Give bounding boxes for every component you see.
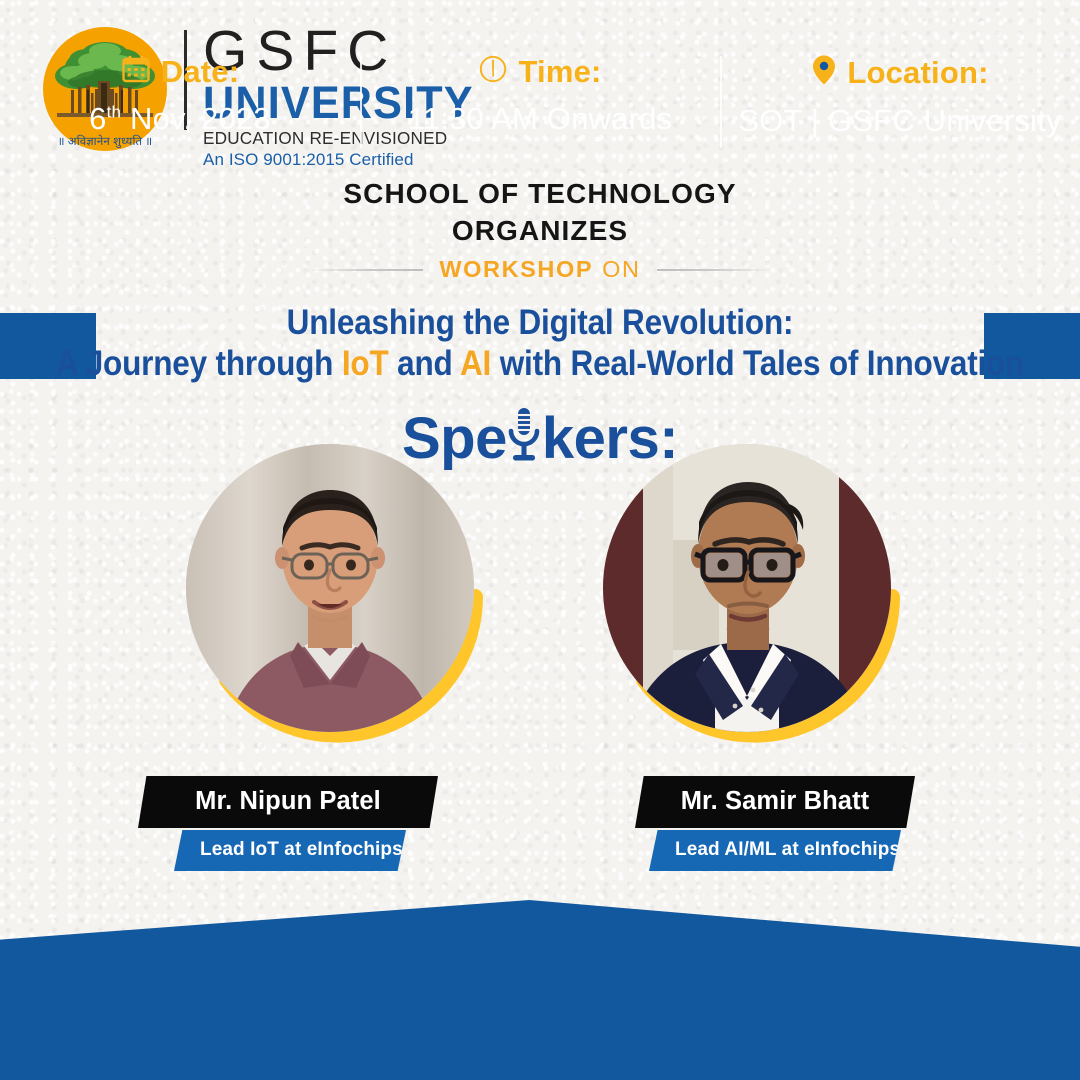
- event-detail-location: Location: SOT | GSFC University: [720, 46, 1080, 139]
- date-value: 6th Nov, 2023: [0, 101, 360, 137]
- date-day: 6: [89, 101, 106, 136]
- location-heading: Location:: [720, 54, 1080, 91]
- speakers-heading-pre: Spe: [402, 405, 507, 472]
- workshop-label: WORKSHOPON: [439, 256, 640, 283]
- microphone-icon: [504, 406, 544, 478]
- organizer-line-2: ORGANIZES: [0, 213, 1080, 250]
- decorative-rule-left: [305, 269, 423, 271]
- event-poster: ॥ अविज्ञानेन शुध्यति ॥ GSFC UNIVERSITY E…: [0, 0, 1080, 1080]
- time-label: Time:: [518, 56, 601, 87]
- speaker-role: Lead IoT at eInfochips: [174, 830, 406, 871]
- workshop-on-word: ON: [602, 256, 640, 282]
- workshop-word: WORKSHOP: [439, 256, 593, 282]
- location-pin-icon: [811, 54, 837, 91]
- title-line-2-part-b: and: [389, 344, 460, 383]
- time-heading: Time:: [360, 54, 720, 89]
- portrait-nipun-patel: [186, 444, 474, 732]
- footer-divider: [720, 56, 722, 148]
- date-heading: Date:: [0, 54, 360, 89]
- footer-divider: [360, 56, 362, 148]
- portrait-samir-bhatt: [603, 444, 891, 732]
- speakers-heading: Spe kers:: [0, 402, 1080, 474]
- location-value: SOT | GSFC University: [720, 103, 1080, 139]
- speaker-role: Lead AI/ML at eInfochips: [649, 830, 901, 871]
- title-line-1: Unleashing the Digital Revolution:: [54, 296, 1026, 343]
- date-day-suffix: th: [107, 103, 122, 122]
- decorative-rule-right: [657, 269, 775, 271]
- title-highlight-iot: IoT: [342, 344, 389, 383]
- event-detail-date: Date: 6th Nov, 2023: [0, 46, 360, 137]
- date-month-year: Nov, 2023: [121, 101, 271, 136]
- location-label: Location:: [847, 57, 988, 88]
- speaker-banners: Mr. Nipun Patel Lead IoT at eInfochips: [138, 776, 438, 871]
- time-value: 11:30 AM Onwards: [360, 101, 720, 137]
- workshop-title: Unleashing the Digital Revolution: A Jou…: [0, 296, 1080, 392]
- title-line-2-part-c: with Real-World Tales of Innovation: [491, 344, 1024, 383]
- speaker-name: Mr. Samir Bhatt: [635, 776, 915, 828]
- clock-icon: [478, 54, 508, 89]
- speaker-card: Mr. Samir Bhatt Lead AI/ML at eInfochips: [603, 444, 903, 754]
- date-label: Date:: [161, 56, 240, 87]
- organizer-line-1: SCHOOL OF TECHNOLOGY: [0, 176, 1080, 213]
- speakers-heading-post: kers:: [542, 405, 678, 472]
- event-detail-time: Time: 11:30 AM Onwards: [360, 46, 720, 137]
- event-details-footer: [0, 900, 1080, 1080]
- event-details-row: Date: 6th Nov, 2023 Time: 11:30 AM Onwar…: [0, 46, 1080, 180]
- speaker-portrait: [186, 444, 474, 732]
- organizer-heading: SCHOOL OF TECHNOLOGY ORGANIZES: [0, 176, 1080, 250]
- speaker-name: Mr. Nipun Patel: [138, 776, 438, 828]
- speaker-photo-wrap: [603, 444, 903, 754]
- workshop-label-row: WORKSHOPON: [0, 256, 1080, 283]
- speaker-banners: Mr. Samir Bhatt Lead AI/ML at eInfochips: [635, 776, 915, 871]
- speaker-portrait: [603, 444, 891, 732]
- title-highlight-ai: AI: [460, 344, 491, 383]
- calendar-icon: [121, 54, 151, 89]
- title-line-2: A Journey through IoT and AI with Real-W…: [54, 343, 1026, 384]
- speaker-card: Mr. Nipun Patel Lead IoT at eInfochips: [186, 444, 486, 754]
- title-line-2-part-a: A Journey through: [56, 344, 342, 383]
- title-band: Unleashing the Digital Revolution: A Jou…: [0, 296, 1080, 392]
- speaker-photo-wrap: [186, 444, 486, 754]
